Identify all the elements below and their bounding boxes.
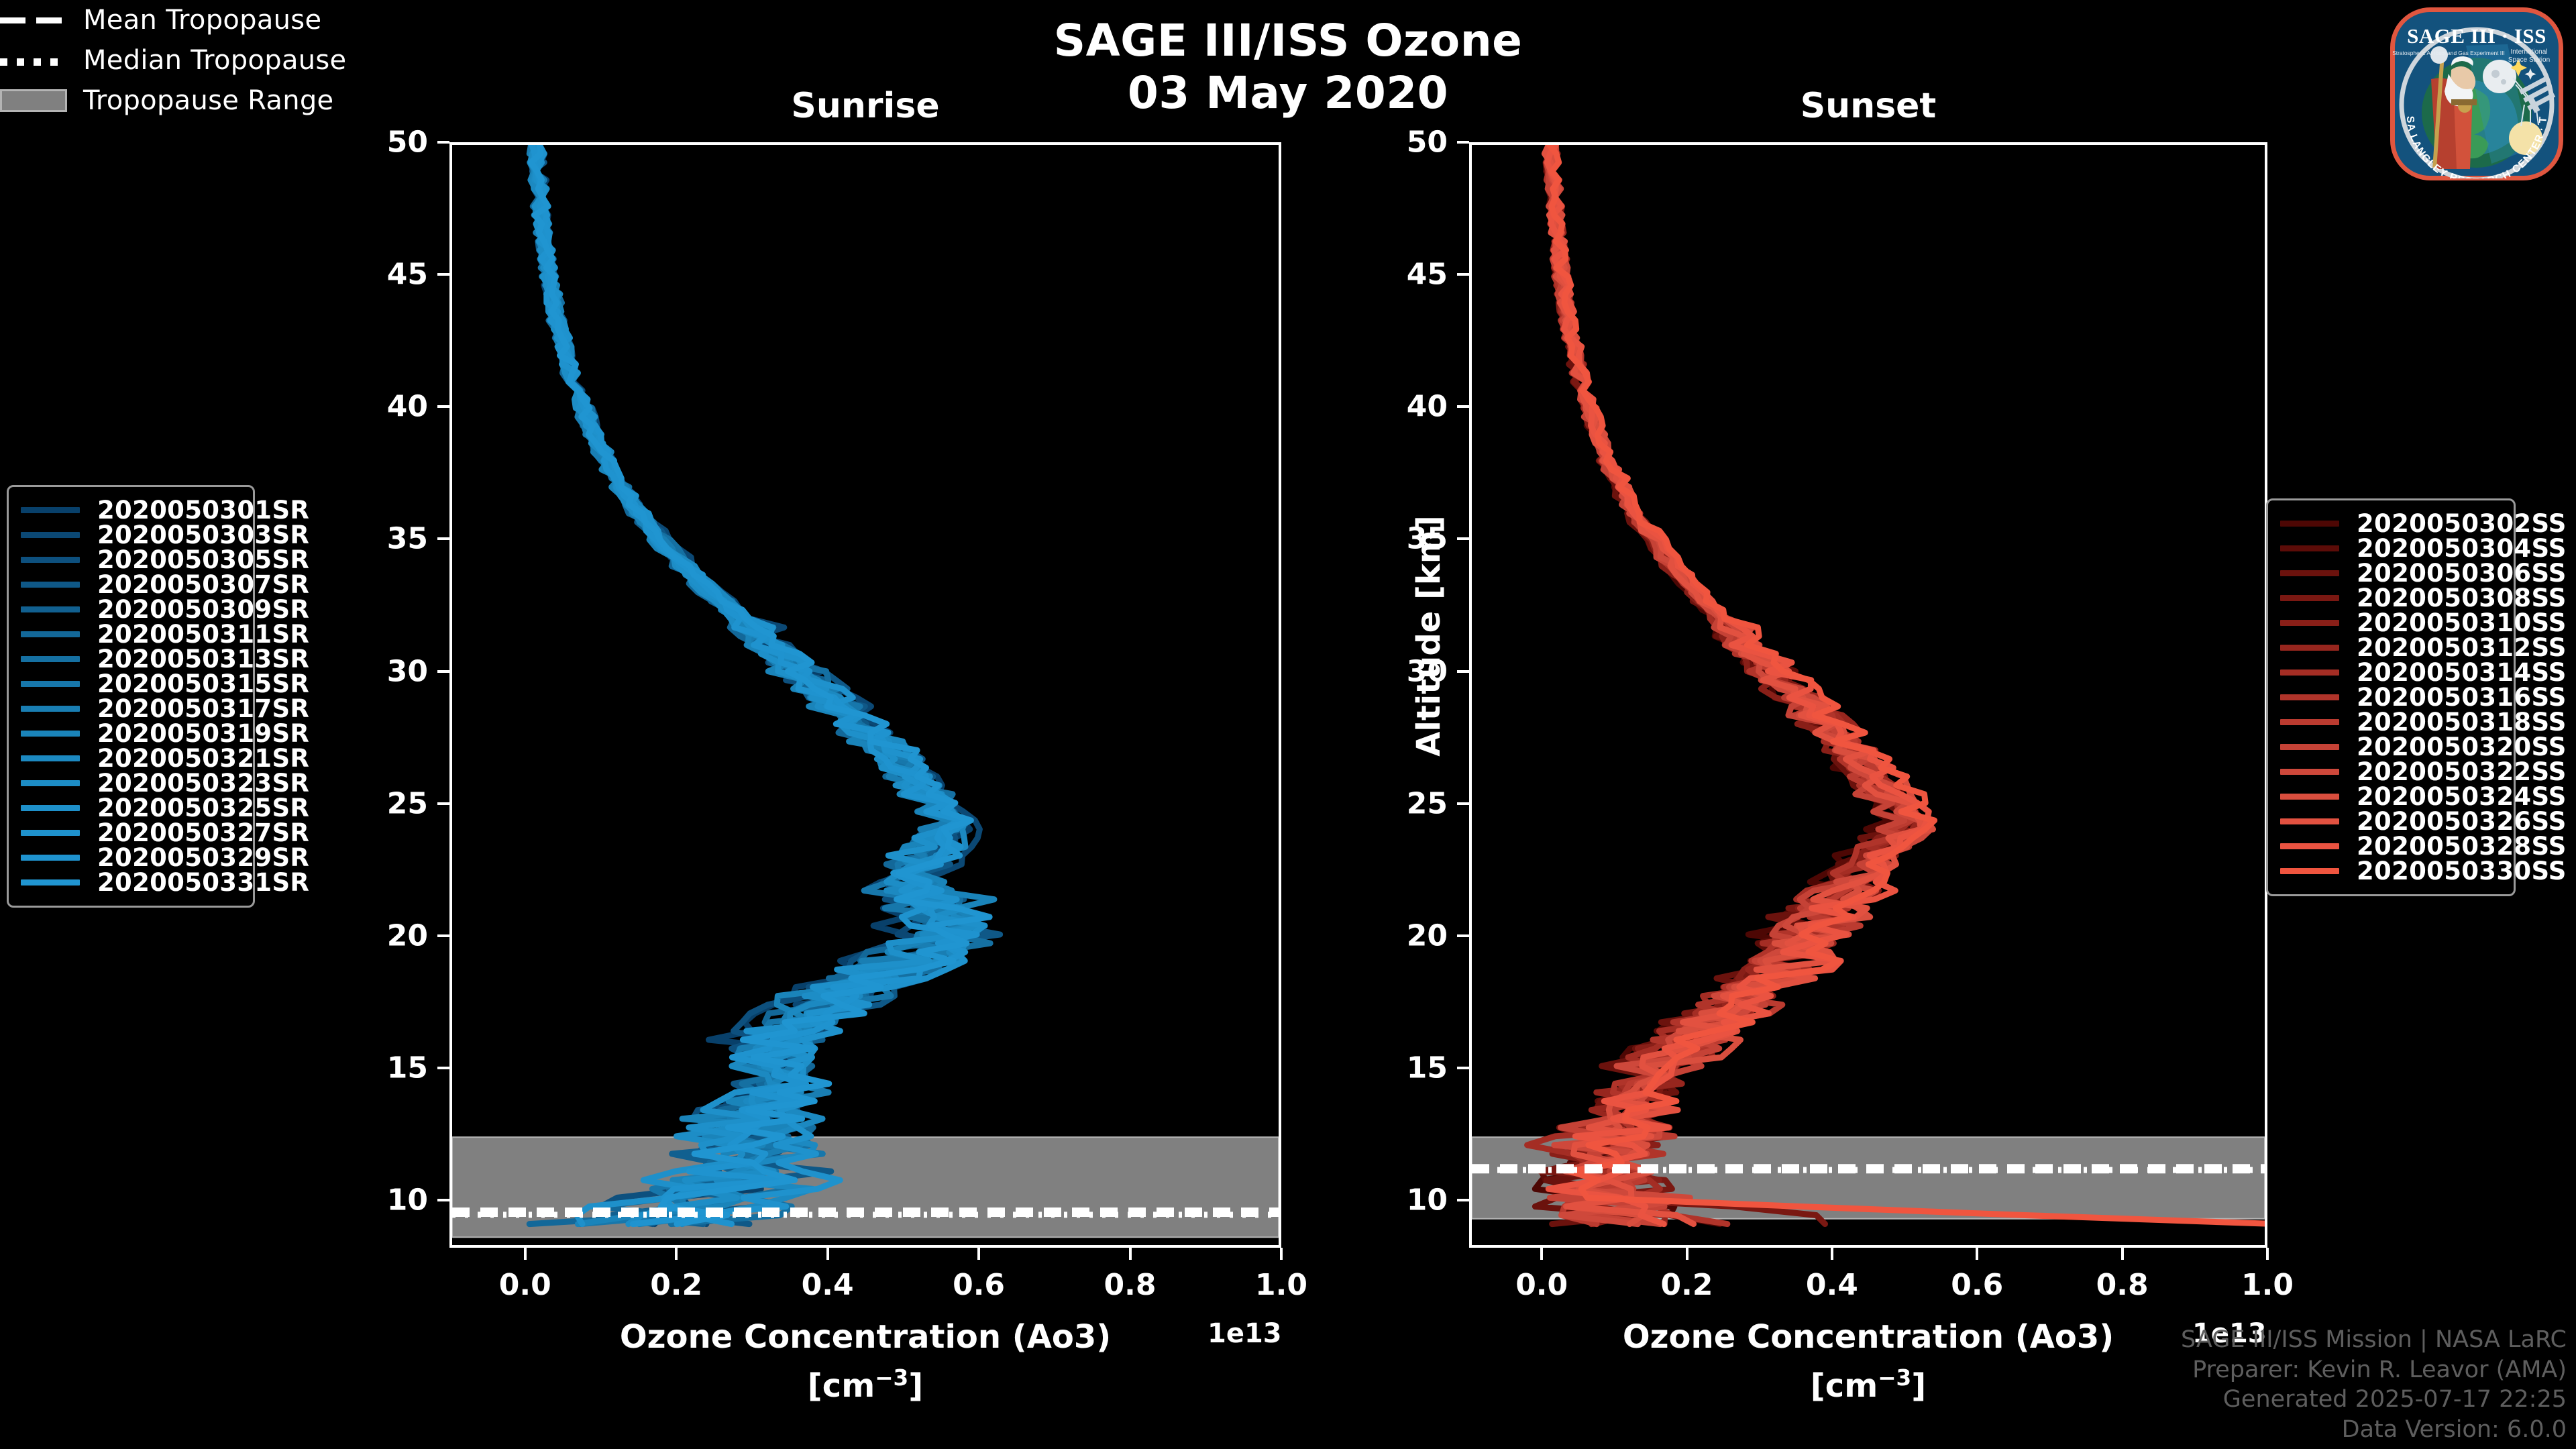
legend-sunset-swatch-icon <box>2280 868 2339 874</box>
median-tropopause-dot-icon <box>0 52 67 68</box>
x-tick-mark-sunrise <box>524 1248 527 1260</box>
legend-sunrise[interactable]: 2020050301SR2020050303SR2020050305SR2020… <box>7 485 255 908</box>
x-tick-label-sunrise: 0.6 <box>953 1268 1005 1302</box>
y-tick-mark-sunset <box>1457 141 1469 144</box>
y-tick-label-sunset: 40 <box>1362 390 1448 424</box>
y-tick-label-sunrise: 20 <box>342 918 428 953</box>
legend-sunset-swatch-icon <box>2280 794 2339 800</box>
legend-sunset-item[interactable]: 2020050306SS <box>2280 561 2499 586</box>
y-tick-label-sunset: 10 <box>1362 1183 1448 1218</box>
legend-sunrise-swatch-icon <box>21 631 80 637</box>
ozone-profile-line <box>1535 145 1890 1224</box>
credits-block: SAGE III/ISS Mission | NASA LaRC Prepare… <box>2181 1325 2567 1445</box>
x-tick-mark-sunset <box>1831 1248 1833 1260</box>
y-tick-mark-sunrise <box>437 670 449 673</box>
y-tick-label-sunset: 15 <box>1362 1051 1448 1085</box>
x-tick-label-sunset: 0.8 <box>2096 1268 2149 1302</box>
mission-patch-icon: SAGE III · ISS Stratospheric Aerosol and… <box>2387 4 2567 184</box>
y-tick-label-sunrise: 25 <box>342 786 428 820</box>
logo-title: SAGE III · ISS <box>2407 24 2546 48</box>
legend-sunrise-item[interactable]: 2020050315SR <box>21 672 238 696</box>
y-tick-mark-sunset <box>1457 670 1469 673</box>
y-tick-label-sunset: 45 <box>1362 258 1448 292</box>
x-tick-label-sunset: 0.0 <box>1515 1268 1568 1302</box>
y-tick-label-sunrise: 45 <box>342 258 428 292</box>
sunrise-profile-canvas <box>452 145 1279 1245</box>
y-tick-mark-sunset <box>1457 1067 1469 1069</box>
legend-sunrise-swatch-icon <box>21 879 80 885</box>
legend-sunrise-item[interactable]: 2020050321SR <box>21 746 238 771</box>
ozone-profile-line <box>1548 145 1931 1224</box>
legend-sunset-swatch-icon <box>2280 521 2339 527</box>
x-tick-mark-sunrise <box>1280 1248 1283 1260</box>
legend-sunset-swatch-icon <box>2280 744 2339 750</box>
legend-sunset-swatch-icon <box>2280 694 2339 700</box>
ozone-profile-line <box>1548 145 1903 1224</box>
legend-sunset-item[interactable]: 2020050304SS <box>2280 536 2499 561</box>
ozone-profile-line <box>1542 145 1919 1224</box>
ozone-profile-line <box>1527 145 1911 1224</box>
x-axis-label-sunset: Ozone Concentration (Ao3) [cm−3] <box>1469 1318 2267 1405</box>
y-axis-label-sunset: Altitude [km] <box>1410 482 1448 790</box>
legend-sunset-item[interactable]: 2020050312SS <box>2280 635 2499 660</box>
legend-sunset-swatch-icon <box>2280 620 2339 626</box>
y-tick-label-sunrise: 15 <box>342 1051 428 1085</box>
legend-sunrise-item[interactable]: 2020050327SR <box>21 820 238 845</box>
y-tick-mark-sunrise <box>437 273 449 276</box>
sage-iii-iss-logo: SAGE III · ISS Stratospheric Aerosol and… <box>2387 4 2567 184</box>
x-tick-label-sunrise: 0.4 <box>802 1268 854 1302</box>
legend-sunset-swatch-icon <box>2280 769 2339 775</box>
ozone-profile-line <box>1546 145 1907 1224</box>
legend-sunrise-swatch-icon <box>21 656 80 662</box>
logo-subtitle-left: Stratospheric Aerosol and Gas Experiment… <box>2392 50 2505 56</box>
y-tick-label-sunset: 25 <box>1362 786 1448 820</box>
legend-sunset-item[interactable]: 2020050320SS <box>2280 735 2499 759</box>
legend-sunrise-swatch-icon <box>21 606 80 612</box>
legend-sunset-swatch-icon <box>2280 595 2339 601</box>
x-tick-label-sunrise: 0.8 <box>1104 1268 1157 1302</box>
legend-sunrise-label: 2020050331SR <box>97 868 309 897</box>
legend-sunrise-item[interactable]: 2020050303SR <box>21 523 238 547</box>
ozone-profile-line <box>1548 145 1915 1224</box>
y-tick-mark-sunset <box>1457 802 1469 805</box>
x-axis-label-line2: [cm−3] <box>449 1365 1281 1405</box>
y-tick-mark-sunset <box>1457 934 1469 937</box>
ozone-profile-line <box>1547 145 1929 1224</box>
y-tick-mark-sunrise <box>437 537 449 540</box>
sunset-profile-canvas <box>1472 145 2265 1245</box>
legend-sunset-item[interactable]: 2020050318SS <box>2280 710 2499 735</box>
legend-sunset-item[interactable]: 2020050316SS <box>2280 685 2499 710</box>
legend-sunrise-swatch-icon <box>21 731 80 737</box>
legend-sunset-item[interactable]: 2020050326SS <box>2280 809 2499 834</box>
panel-title-sunrise: Sunrise <box>449 86 1281 126</box>
x-tick-label-sunrise: 0.2 <box>650 1268 702 1302</box>
x-axis-label-line2: [cm−3] <box>1469 1365 2267 1405</box>
legend-sunset[interactable]: 2020050302SS2020050304SS2020050306SS2020… <box>2266 498 2516 896</box>
x-axis-label-sunrise: Ozone Concentration (Ao3) [cm−3] <box>449 1318 1281 1405</box>
y-tick-mark-sunrise <box>437 1199 449 1201</box>
legend-sunrise-swatch-icon <box>21 582 80 588</box>
y-tick-label-sunrise: 40 <box>342 390 428 424</box>
y-tick-label-sunrise: 30 <box>342 654 428 688</box>
legend-sunrise-item[interactable]: 2020050329SR <box>21 845 238 870</box>
x-tick-mark-sunrise <box>1129 1248 1132 1260</box>
ozone-profile-line <box>1535 145 1906 1224</box>
legend-sunset-item[interactable]: 2020050302SS <box>2280 511 2499 536</box>
legend-sunrise-item[interactable]: 2020050317SR <box>21 696 238 721</box>
legend-sunset-swatch-icon <box>2280 719 2339 725</box>
legend-sunrise-swatch-icon <box>21 532 80 538</box>
legend-sunrise-swatch-icon <box>21 755 80 761</box>
y-tick-label-sunrise: 35 <box>342 522 428 556</box>
y-tick-mark-sunrise <box>437 1067 449 1069</box>
panel-title-sunset: Sunset <box>1469 86 2267 126</box>
y-tick-mark-sunrise <box>437 405 449 408</box>
x-axis-label-line1: Ozone Concentration (Ao3) <box>1469 1318 2267 1356</box>
legend-sunrise-item[interactable]: 2020050331SR <box>21 870 238 895</box>
x-tick-mark-sunset <box>2266 1248 2269 1260</box>
y-tick-label-sunrise: 10 <box>342 1183 428 1218</box>
credits-line-2: Preparer: Kevin R. Leavor (AMA) <box>2181 1355 2567 1385</box>
legend-sunset-item[interactable]: 2020050308SS <box>2280 586 2499 610</box>
legend-sunrise-item[interactable]: 2020050305SR <box>21 547 238 572</box>
legend-sunset-item[interactable]: 2020050328SS <box>2280 834 2499 859</box>
legend-sunset-item[interactable]: 2020050310SS <box>2280 610 2499 635</box>
y-tick-mark-sunset <box>1457 537 1469 540</box>
y-tick-mark-sunrise <box>437 802 449 805</box>
logo-subtitle-right-2: Space Station <box>2508 56 2550 64</box>
ozone-profile-line <box>532 145 977 1224</box>
legend-sunrise-item[interactable]: 2020050313SR <box>21 647 238 672</box>
x-tick-label-sunrise: 1.0 <box>1255 1268 1307 1302</box>
legend-sunrise-swatch-icon <box>21 557 80 563</box>
x-tick-mark-sunset <box>1976 1248 1978 1260</box>
legend-sunrise-item[interactable]: 2020050309SR <box>21 597 238 622</box>
legend-sunset-item[interactable]: 2020050324SS <box>2280 784 2499 809</box>
legend-sunrise-item[interactable]: 2020050325SR <box>21 796 238 820</box>
legend-sunset-item[interactable]: 2020050330SS <box>2280 859 2499 883</box>
legend-sunrise-item[interactable]: 2020050319SR <box>21 721 238 746</box>
title-line-1: SAGE III/ISS Ozone <box>0 15 2576 67</box>
legend-sunrise-swatch-icon <box>21 780 80 786</box>
x-tick-mark-sunrise <box>977 1248 980 1260</box>
x-tick-mark-sunset <box>1686 1248 1688 1260</box>
x-tick-label-sunset: 1.0 <box>2241 1268 2294 1302</box>
ozone-profile-line <box>1540 145 1916 1224</box>
x-tick-label-sunset: 0.2 <box>1661 1268 1713 1302</box>
legend-sunset-label: 2020050330SS <box>2357 857 2567 885</box>
ozone-profile-line <box>1546 145 1918 1224</box>
x-tick-mark-sunset <box>1540 1248 1543 1260</box>
legend-sunrise-item[interactable]: 2020050323SR <box>21 771 238 796</box>
plot-area-sunrise <box>449 142 1281 1248</box>
y-tick-mark-sunset <box>1457 1199 1469 1201</box>
plot-area-sunset <box>1469 142 2267 1248</box>
ozone-profile-line <box>1546 145 1904 1224</box>
ozone-profile-line <box>1544 145 1921 1224</box>
legend-sunset-swatch-icon <box>2280 669 2339 676</box>
y-tick-label-sunrise: 50 <box>342 125 428 160</box>
legend-sunrise-swatch-icon <box>21 507 80 513</box>
credits-line-4: Data Version: 6.0.0 <box>2181 1415 2567 1445</box>
legend-sunset-item[interactable]: 2020050322SS <box>2280 759 2499 784</box>
y-tick-label-sunset: 20 <box>1362 918 1448 953</box>
legend-sunrise-item[interactable]: 2020050301SR <box>21 498 238 523</box>
legend-sunset-swatch-icon <box>2280 545 2339 551</box>
legend-sunrise-item[interactable]: 2020050311SR <box>21 622 238 647</box>
y-tick-mark-sunrise <box>437 934 449 937</box>
x-tick-mark-sunrise <box>675 1248 678 1260</box>
x-axis-offset-sunrise: 1e13 <box>1207 1318 1282 1349</box>
y-tick-mark-sunset <box>1457 273 1469 276</box>
legend-sunrise-item[interactable]: 2020050307SR <box>21 572 238 597</box>
legend-sunset-swatch-icon <box>2280 843 2339 849</box>
mean-tropopause-dash-icon <box>0 12 67 28</box>
legend-sunset-swatch-icon <box>2280 645 2339 651</box>
legend-sunrise-swatch-icon <box>21 830 80 836</box>
legend-sunrise-swatch-icon <box>21 706 80 712</box>
y-tick-mark-sunrise <box>437 141 449 144</box>
y-tick-mark-sunset <box>1457 405 1469 408</box>
legend-sunset-swatch-icon <box>2280 818 2339 824</box>
x-tick-mark-sunset <box>2121 1248 2124 1260</box>
legend-sunrise-swatch-icon <box>21 681 80 687</box>
x-axis-label-line1: Ozone Concentration (Ao3) <box>449 1318 1281 1356</box>
legend-sunrise-swatch-icon <box>21 805 80 811</box>
legend-sunset-item[interactable]: 2020050314SS <box>2280 660 2499 685</box>
legend-sunset-swatch-icon <box>2280 570 2339 576</box>
y-tick-label-sunset: 50 <box>1362 125 1448 160</box>
x-tick-label-sunrise: 0.0 <box>499 1268 551 1302</box>
logo-subtitle-right-1: International <box>2510 48 2547 56</box>
legend-sunrise-swatch-icon <box>21 855 80 861</box>
credits-line-3: Generated 2025-07-17 22:25 <box>2181 1385 2567 1415</box>
x-tick-label-sunset: 0.4 <box>1806 1268 1858 1302</box>
credits-line-1: SAGE III/ISS Mission | NASA LaRC <box>2181 1325 2567 1355</box>
x-tick-mark-sunrise <box>826 1248 829 1260</box>
x-tick-label-sunset: 0.6 <box>1951 1268 2003 1302</box>
